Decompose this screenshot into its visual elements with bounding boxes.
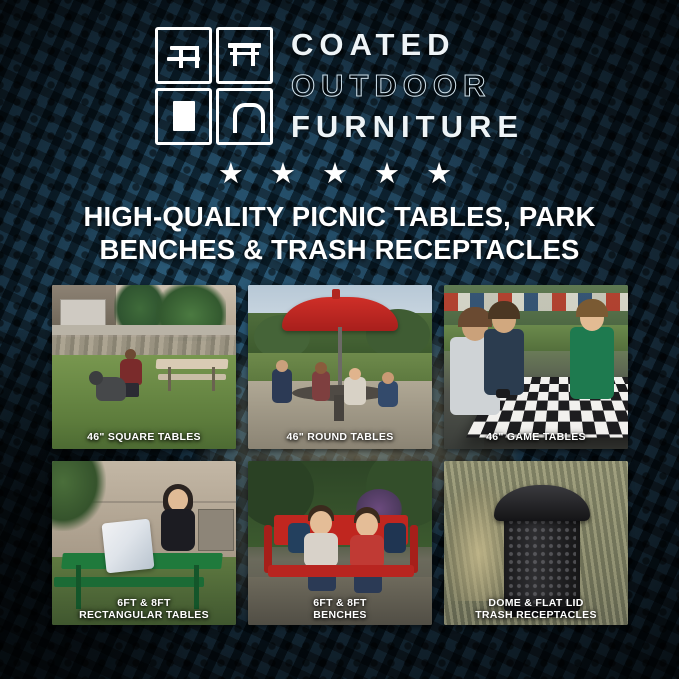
product-card-round-tables: 46" ROUND TABLES — [248, 285, 432, 449]
product-caption-line-1: 6FT & 8FT — [313, 597, 366, 609]
brand-word-1: COATED — [291, 24, 524, 65]
logo-icon-grid — [155, 27, 273, 145]
product-caption: 46" ROUND TABLES — [248, 431, 432, 443]
product-card-rectangular-tables: 6FT & 8FT RECTANGULAR TABLES — [52, 461, 236, 625]
product-poster: COATED OUTDOOR FURNITURE ★ ★ ★ ★ ★ HIGH-… — [0, 0, 679, 679]
poster-content: COATED OUTDOOR FURNITURE ★ ★ ★ ★ ★ HIGH-… — [0, 0, 679, 679]
product-caption-line-2: RECTANGULAR TABLES — [79, 609, 209, 621]
product-caption: 46" SQUARE TABLES — [52, 431, 236, 443]
product-caption-line-1: DOME & FLAT LID — [488, 597, 583, 609]
product-caption: DOME & FLAT LID TRASH RECEPTACLES — [444, 597, 628, 621]
product-photo-game-tables — [444, 285, 628, 449]
headline-line-1: HIGH-QUALITY PICNIC TABLES, PARK — [40, 200, 639, 233]
product-grid: 46" SQUARE TABLES 46" ROUND TABLES — [52, 285, 628, 625]
product-caption-line-2: BENCHES — [313, 609, 366, 621]
product-card-square-tables: 46" SQUARE TABLES — [52, 285, 236, 449]
headline: HIGH-QUALITY PICNIC TABLES, PARK BENCHES… — [40, 200, 639, 266]
product-caption-line-1: 6FT & 8FT — [117, 597, 170, 609]
star-rating: ★ ★ ★ ★ ★ — [0, 158, 679, 190]
brand-logo: COATED OUTDOOR FURNITURE — [0, 24, 679, 147]
brand-word-2: OUTDOOR — [291, 65, 524, 106]
bench-icon — [216, 27, 273, 84]
dome-lid-receptacle-icon — [216, 88, 273, 145]
product-caption-line-2: TRASH RECEPTACLES — [475, 609, 597, 621]
trash-receptacle-icon — [155, 88, 212, 145]
product-photo-round-tables — [248, 285, 432, 449]
product-caption: 6FT & 8FT BENCHES — [248, 597, 432, 621]
product-caption: 46" GAME TABLES — [444, 431, 628, 443]
brand-word-3: FURNITURE — [291, 106, 524, 147]
headline-line-2: BENCHES & TRASH RECEPTACLES — [40, 233, 639, 266]
product-card-trash-receptacles: DOME & FLAT LID TRASH RECEPTACLES — [444, 461, 628, 625]
product-caption: 6FT & 8FT RECTANGULAR TABLES — [52, 597, 236, 621]
brand-wordmark: COATED OUTDOOR FURNITURE — [291, 24, 524, 147]
product-card-benches: 6FT & 8FT BENCHES — [248, 461, 432, 625]
product-card-game-tables: 46" GAME TABLES — [444, 285, 628, 449]
picnic-table-icon — [155, 27, 212, 84]
product-photo-square-tables — [52, 285, 236, 449]
